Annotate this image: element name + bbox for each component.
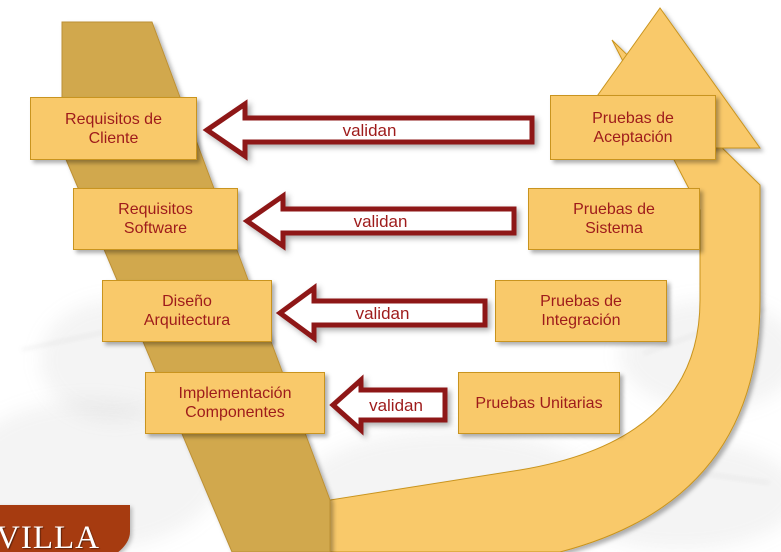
validan-arrow-integracion[interactable]: validan bbox=[276, 284, 489, 342]
box-pruebas-integracion[interactable]: Pruebas de Integración bbox=[495, 280, 667, 342]
validan-arrow-aceptacion[interactable]: validan bbox=[203, 100, 536, 160]
box-requisitos-software[interactable]: Requisitos Software bbox=[73, 188, 238, 250]
left-block-arrow-icon bbox=[243, 192, 518, 250]
left-block-arrow-icon bbox=[203, 100, 536, 160]
v-shape-band bbox=[0, 0, 781, 552]
validan-arrow-unitarias[interactable]: validan bbox=[329, 376, 449, 434]
box-pruebas-sistema[interactable]: Pruebas de Sistema bbox=[528, 188, 700, 250]
banner-label: VILLA bbox=[0, 520, 100, 552]
v-model-slide: Requisitos de Cliente Requisitos Softwar… bbox=[0, 0, 781, 552]
institution-banner: VILLA bbox=[0, 505, 130, 552]
box-requisitos-cliente[interactable]: Requisitos de Cliente bbox=[30, 97, 197, 160]
box-pruebas-aceptacion[interactable]: Pruebas de Aceptación bbox=[550, 95, 716, 160]
box-pruebas-unitarias[interactable]: Pruebas Unitarias bbox=[458, 372, 620, 434]
validan-arrow-sistema[interactable]: validan bbox=[243, 192, 518, 250]
left-block-arrow-icon bbox=[329, 376, 449, 434]
box-implementacion-componentes[interactable]: Implementación Componentes bbox=[145, 372, 325, 434]
box-diseno-arquitectura[interactable]: Diseño Arquitectura bbox=[102, 280, 272, 342]
left-block-arrow-icon bbox=[276, 284, 489, 342]
